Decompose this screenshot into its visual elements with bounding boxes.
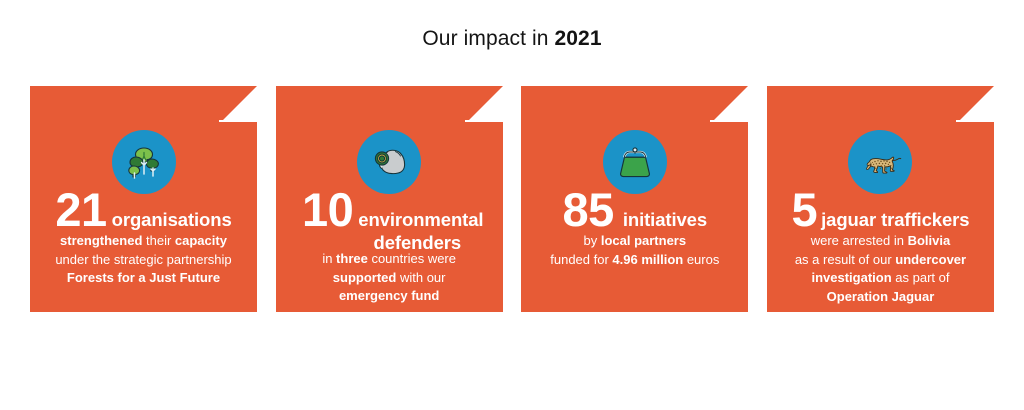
card-number: 10 [302,186,353,235]
impact-card: 5 jaguar traffickers were arrested in Bo… [767,86,994,312]
page-title: Our impact in 2021 [0,27,1024,51]
card-label: jaguar traffickers [821,209,969,232]
jaguar-icon [848,130,912,194]
card-body-line: emergency fund [282,287,497,306]
card-number: 5 [791,186,817,235]
impact-infographic: Our impact in 2021 [0,0,1024,410]
card-body-line: investigation as part of [773,269,988,288]
card-body-line: supported with our [282,269,497,288]
card-body-line: by local partners [527,232,742,251]
hand-holding-coin-icon [357,130,421,194]
card-label: organisations [112,209,232,232]
card-body-line: strengthened their capacity [36,232,251,251]
page-title-year: 2021 [554,27,601,50]
card-body-line: were arrested in Bolivia [773,232,988,251]
card-body-line: Operation Jaguar [773,288,988,307]
card-number: 21 [55,186,106,235]
card-body: strengthened their capacityunder the str… [36,232,251,288]
card-body-line: in three countries were [282,250,497,269]
card-label: initiatives [623,209,707,232]
impact-card: 85 initiatives by local partnersfunded f… [521,86,748,312]
card-body: in three countries weresupported with ou… [282,250,497,306]
impact-card: 10 environmental defenders in three coun… [276,86,503,312]
card-headline: 21 organisations [36,186,251,235]
card-label: environmental defenders [358,209,476,254]
card-body-line: under the strategic partnership [36,251,251,270]
card-headline: 5 jaguar traffickers [773,186,988,235]
card-body: were arrested in Boliviaas a result of o… [773,232,988,306]
card-body-line: funded for 4.96 million euros [527,251,742,270]
page-title-prefix: Our impact in [422,27,554,50]
card-number: 85 [563,186,614,235]
impact-card: 21 organisations strengthened their capa… [30,86,257,312]
forest-trees-icon [112,130,176,194]
card-body: by local partnersfunded for 4.96 million… [527,232,742,269]
card-body-line: as a result of our undercover [773,251,988,270]
card-headline: 85 initiatives [527,186,742,235]
card-body-line: Forests for a Just Future [36,269,251,288]
impact-card-list: 21 organisations strengthened their capa… [30,86,994,312]
card-headline: 10 environmental defenders [282,186,497,254]
